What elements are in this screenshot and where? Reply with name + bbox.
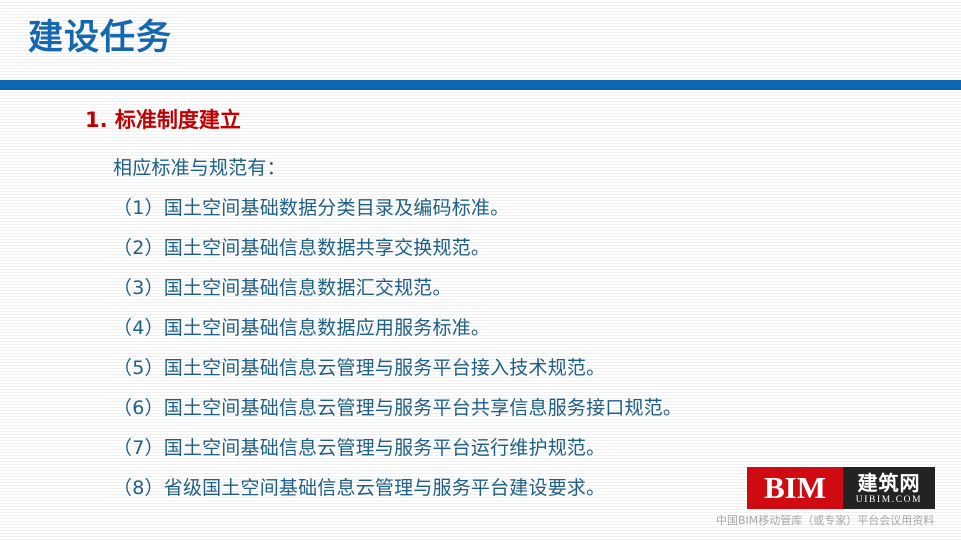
list-item: （1）国土空间基础数据分类目录及编码标准。 <box>113 188 943 228</box>
body-content: 相应标准与规范有： （1）国土空间基础数据分类目录及编码标准。 （2）国土空间基… <box>113 148 943 508</box>
title-divider-bar <box>0 80 961 90</box>
section-heading: 1. 标准制度建立 <box>85 106 241 134</box>
logo-red-block: BIM <box>747 467 843 509</box>
list-item: （2）国土空间基础信息数据共享交换规范。 <box>113 228 943 268</box>
slide-canvas: 建设任务 1. 标准制度建立 相应标准与规范有： （1）国土空间基础数据分类目录… <box>0 0 961 540</box>
logo-domain-text: UIBIM.COM <box>856 494 922 506</box>
page-title: 建设任务 <box>28 14 172 62</box>
logo-dark-block: 建筑网 UIBIM.COM <box>843 467 935 509</box>
list-item: （7）国土空间基础信息云管理与服务平台运行维护规范。 <box>113 428 943 468</box>
body-intro-line: 相应标准与规范有： <box>113 148 943 188</box>
list-item: （3）国土空间基础信息数据汇交规范。 <box>113 268 943 308</box>
footer-watermark-text: 中国BIM移动管库（或专家）平台会议用资料 <box>716 514 934 528</box>
list-item: （6）国土空间基础信息云管理与服务平台共享信息服务接口规范。 <box>113 388 943 428</box>
list-item: （4）国土空间基础信息数据应用服务标准。 <box>113 308 943 348</box>
bim-watermark-logo: BIM 建筑网 UIBIM.COM <box>747 467 935 509</box>
list-item: （5）国土空间基础信息云管理与服务平台接入技术规范。 <box>113 348 943 388</box>
logo-chinese-text: 建筑网 <box>858 472 921 494</box>
logo-bim-text: BIM <box>764 472 826 504</box>
